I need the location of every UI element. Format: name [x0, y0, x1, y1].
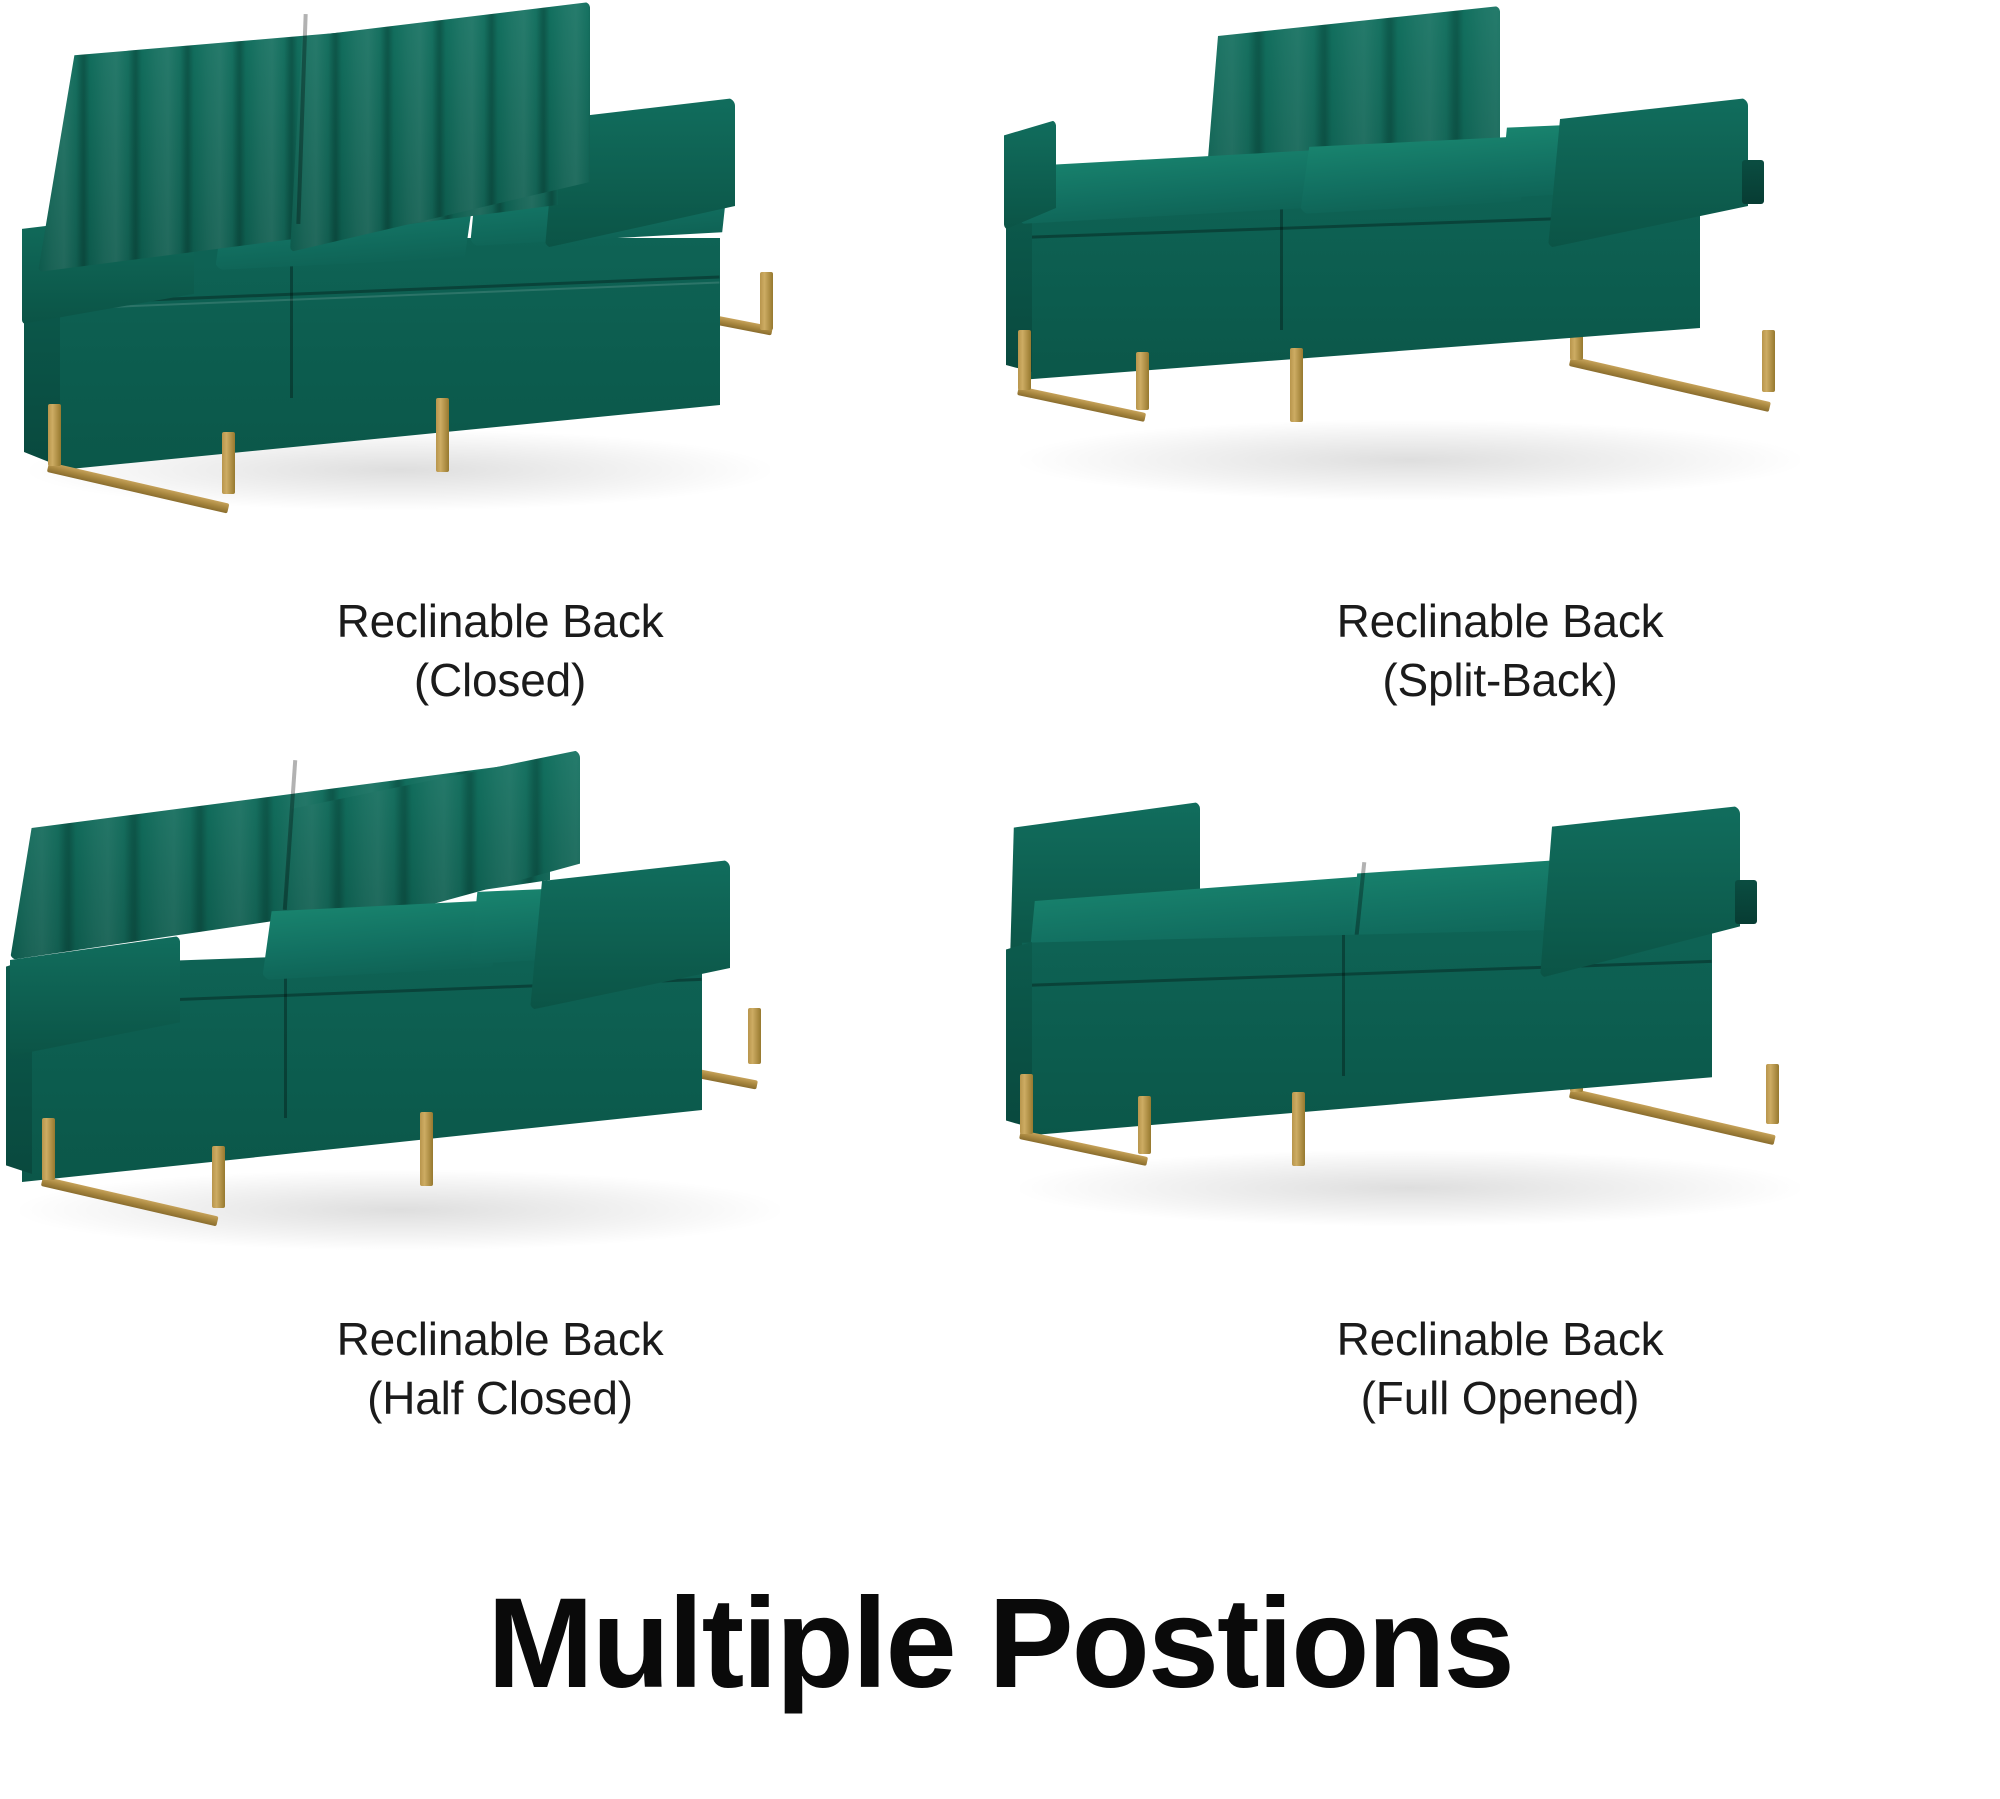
caption-line1: Reclinable Back: [337, 1313, 664, 1365]
headline: Multiple Postions: [0, 1580, 2000, 1708]
contact-shadow: [20, 1170, 780, 1250]
leg-post-center: [1290, 348, 1303, 422]
position-cell-half-closed: Reclinable Back (Half Closed): [0, 750, 1000, 1500]
position-grid: Reclinable Back (Closed): [0, 0, 2000, 1500]
caption-line1: Reclinable Back: [1337, 1313, 1664, 1365]
leg-post-center: [436, 398, 449, 472]
caption-line2: (Half Closed): [0, 1369, 1000, 1428]
position-cell-closed: Reclinable Back (Closed): [0, 0, 1000, 750]
sofa-illustration-full-opened: [1000, 750, 2000, 1350]
sofa-illustration-half-closed: [0, 750, 1000, 1350]
caption-line1: Reclinable Back: [337, 595, 664, 647]
leg-post-center: [1292, 1092, 1305, 1166]
seat-cushion-left: [1300, 136, 1530, 214]
caption-line2: (Closed): [0, 651, 1000, 710]
product-feature-image: Reclinable Back (Closed): [0, 0, 2000, 1799]
position-cell-split-back: Reclinable Back (Split-Back): [1000, 0, 2000, 750]
caption-split-back: Reclinable Back (Split-Back): [1000, 592, 2000, 710]
seat-cushion-left: [262, 900, 502, 980]
caption-line1: Reclinable Back: [1337, 595, 1664, 647]
caption-half-closed: Reclinable Back (Half Closed): [0, 1310, 1000, 1428]
sofa-arm-right: [1548, 98, 1748, 248]
sofa-illustration-closed: [0, 0, 1000, 600]
caption-line2: (Split-Back): [1000, 651, 2000, 710]
sofa-illustration-split-back: [1000, 0, 2000, 600]
position-cell-full-opened: Reclinable Back (Full Opened): [1000, 750, 2000, 1500]
leg-post-center: [420, 1112, 433, 1186]
caption-line2: (Full Opened): [1000, 1369, 2000, 1428]
caption-full-opened: Reclinable Back (Full Opened): [1000, 1310, 2000, 1428]
contact-shadow: [1020, 420, 1800, 500]
recline-release-tab: [1742, 160, 1764, 204]
caption-closed: Reclinable Back (Closed): [0, 592, 1000, 710]
recline-release-tab: [1735, 880, 1757, 924]
